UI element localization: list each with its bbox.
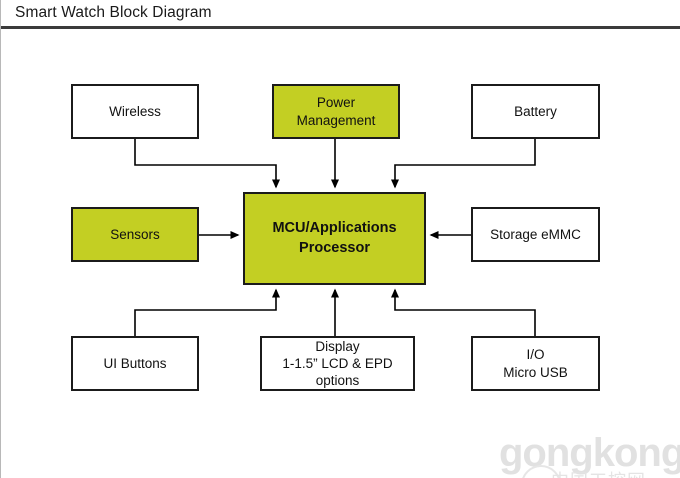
wire-io-to-mcu (395, 290, 535, 336)
block-storage-emmc[interactable]: Storage eMMC (471, 207, 600, 262)
block-battery[interactable]: Battery (471, 84, 600, 139)
block-diagram-page: Smart Watch Block Diagram (0, 0, 680, 478)
page-title: Smart Watch Block Diagram (15, 4, 212, 22)
wire-wireless-to-mcu (135, 139, 276, 187)
watermark-disc-icon (521, 465, 561, 478)
block-battery-label: Battery (508, 103, 563, 120)
block-io-micro-usb[interactable]: I/O Micro USB (471, 336, 600, 391)
watermark-chinese-text: 中国工控网 (551, 467, 646, 478)
block-sensors-label: Sensors (104, 226, 166, 243)
block-display[interactable]: Display 1-1.5” LCD & EPD options (260, 336, 415, 391)
watermark-wordmark: gongkong (499, 433, 680, 473)
block-display-label: Display 1-1.5” LCD & EPD options (276, 338, 398, 390)
block-wireless[interactable]: Wireless (71, 84, 199, 139)
diagram-canvas: Wireless Power Management Battery Sensor… (1, 29, 680, 478)
block-sensors[interactable]: Sensors (71, 207, 199, 262)
block-power-management[interactable]: Power Management (272, 84, 400, 139)
watermark: gongkong 中国工控网 www.elecfans.com (499, 433, 677, 478)
block-wireless-label: Wireless (103, 103, 167, 120)
block-power-management-label: Power Management (291, 94, 382, 129)
block-ui-buttons[interactable]: UI Buttons (71, 336, 199, 391)
wire-uibuttons-to-mcu (135, 290, 276, 336)
block-storage-emmc-label: Storage eMMC (484, 226, 587, 243)
block-ui-buttons-label: UI Buttons (97, 355, 172, 372)
block-io-micro-usb-label: I/O Micro USB (497, 346, 574, 381)
wire-battery-to-mcu (395, 139, 535, 187)
block-mcu-label: MCU/Applications Processor (266, 219, 402, 258)
title-bar: Smart Watch Block Diagram (1, 0, 680, 29)
block-mcu-applications-processor[interactable]: MCU/Applications Processor (243, 192, 426, 285)
